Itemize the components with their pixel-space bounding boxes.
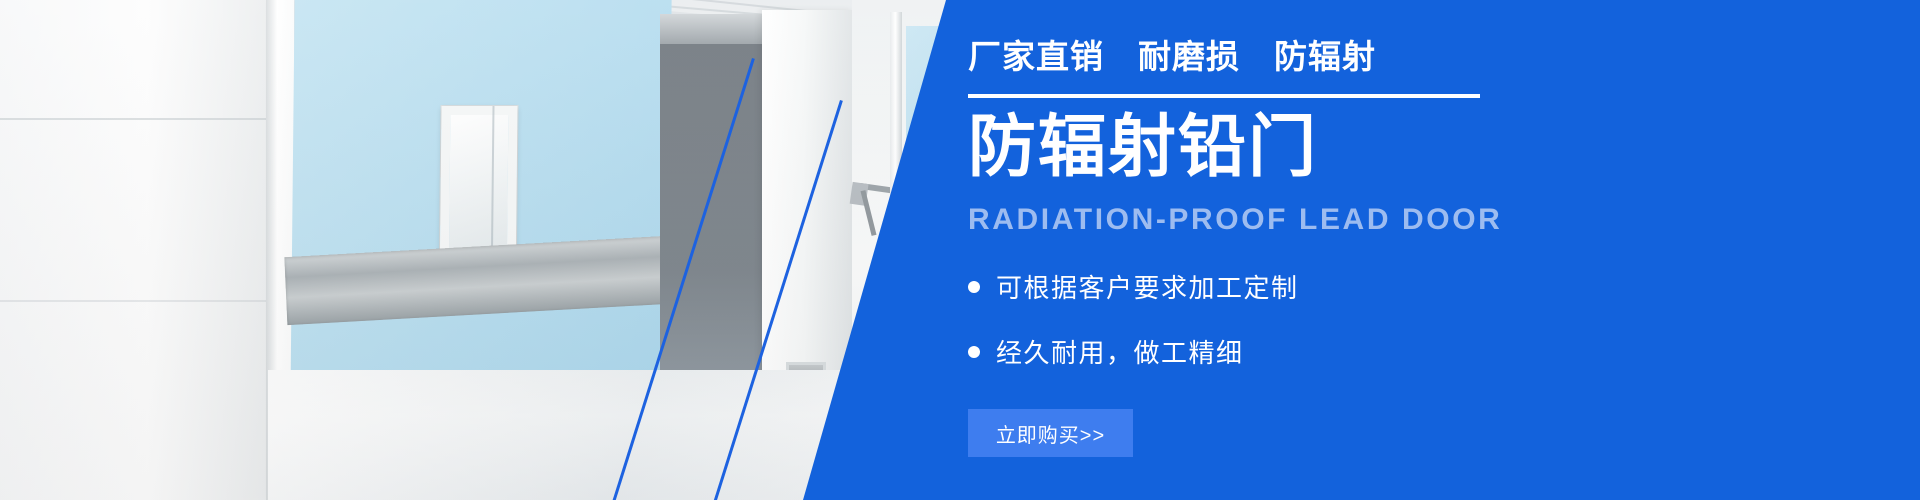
feature-text: 经久耐用，做工精细 [996, 333, 1244, 370]
feature-list: 可根据客户要求加工定制 经久耐用，做工精细 [968, 268, 1668, 398]
bullet-dot-icon [968, 346, 980, 358]
headline-title: 防辐射铅门 [968, 112, 1318, 183]
buy-now-button[interactable]: 立即购买>> [968, 409, 1133, 457]
tagline-row: 厂家直销耐磨损防辐射 [968, 30, 1376, 78]
bullet-dot-icon [968, 281, 980, 293]
banner-content: 厂家直销耐磨损防辐射 防辐射铅门 RADIATION-PROOF LEAD DO… [968, 0, 1868, 500]
subtitle-english: RADIATION-PROOF LEAD DOOR [968, 203, 1502, 237]
tagline-item-1: 耐磨损 [1138, 38, 1240, 75]
feature-text: 可根据客户要求加工定制 [996, 268, 1299, 305]
tagline-item-0: 厂家直销 [968, 38, 1104, 75]
list-item: 经久耐用，做工精细 [968, 333, 1668, 370]
tagline-item-2: 防辐射 [1274, 38, 1376, 75]
list-item: 可根据客户要求加工定制 [968, 268, 1668, 305]
horizontal-divider [968, 94, 1480, 98]
promo-banner: 厂家直销耐磨损防辐射 防辐射铅门 RADIATION-PROOF LEAD DO… [0, 0, 1920, 500]
